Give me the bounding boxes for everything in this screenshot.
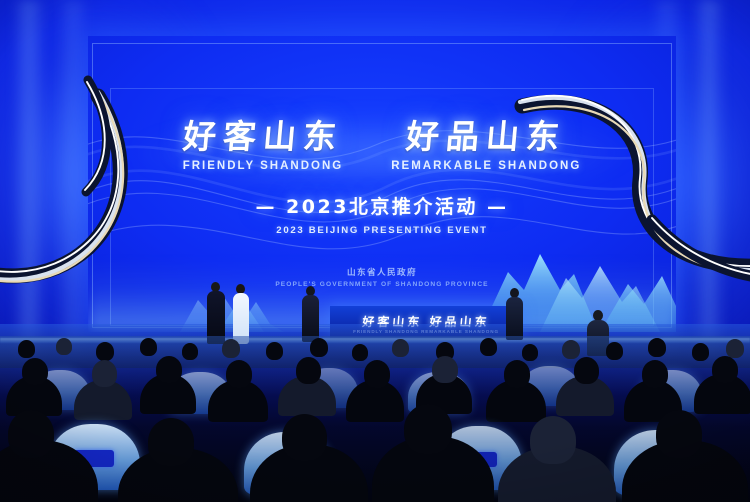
slogan-en-friendly: FRIENDLY SHANDONG xyxy=(183,160,344,172)
audience-head xyxy=(352,344,368,361)
wall-light-streak xyxy=(12,0,46,362)
audience-head xyxy=(22,358,48,385)
audience-head xyxy=(606,342,623,360)
slogan-row: 好客山东 FRIENDLY SHANDONG 好品山东 REMARKABLE S… xyxy=(88,120,676,172)
audience-head xyxy=(18,340,35,358)
audience-head xyxy=(656,410,702,458)
audience-head xyxy=(574,357,599,384)
wall-light-streak xyxy=(56,0,90,362)
audience-head xyxy=(148,418,194,466)
wall-light-streak xyxy=(692,0,726,362)
person-body xyxy=(506,297,523,340)
audience-head xyxy=(92,360,117,387)
audience-head xyxy=(222,339,240,358)
audience-head xyxy=(8,410,54,458)
male-host-dark-suit xyxy=(205,282,227,344)
standing-person-left-of-podium xyxy=(300,286,322,342)
event-title-cn: — 2023北京推介活动 — xyxy=(88,192,676,219)
standing-person-mid-right xyxy=(505,288,525,340)
slogan-cn-remarkable: 好品山东 xyxy=(405,120,568,155)
audience-head xyxy=(96,342,114,361)
audience-head xyxy=(480,338,497,356)
audience-head xyxy=(432,356,458,383)
slogan-en-remarkable: REMARKABLE SHANDONG xyxy=(391,160,581,172)
person-body xyxy=(302,295,319,342)
audience-head xyxy=(140,338,157,356)
audience-head xyxy=(156,356,182,383)
audience-head xyxy=(266,342,283,360)
audience-head xyxy=(692,343,709,361)
audience-head xyxy=(642,360,668,388)
audience-head xyxy=(562,340,580,359)
audience-head xyxy=(530,416,576,464)
audience-head xyxy=(726,339,744,358)
audience-area xyxy=(0,336,750,502)
audience-head xyxy=(364,360,390,388)
audience-head xyxy=(56,338,72,355)
slogan-friendly-shandong: 好客山东 FRIENDLY SHANDONG xyxy=(183,120,344,172)
audience-head xyxy=(392,339,409,357)
slogan-cn-friendly: 好客山东 xyxy=(181,120,344,155)
audience-head xyxy=(182,343,198,360)
stage-event-photo: 好客山东 FRIENDLY SHANDONG 好品山东 REMARKABLE S… xyxy=(0,0,750,502)
audience-head xyxy=(310,338,328,357)
audience-head xyxy=(648,338,666,357)
female-host-white-dress xyxy=(230,284,252,344)
audience-head xyxy=(226,360,252,388)
audience-head xyxy=(522,344,538,361)
audience-head xyxy=(712,356,738,383)
audience-head xyxy=(504,360,530,388)
audience-head xyxy=(282,414,327,461)
audience-head xyxy=(296,357,321,384)
slogan-remarkable-shandong: 好品山东 REMARKABLE SHANDONG xyxy=(391,120,581,172)
audience-head xyxy=(404,404,452,454)
led-backdrop-screen: 好客山东 FRIENDLY SHANDONG 好品山东 REMARKABLE S… xyxy=(88,36,676,332)
